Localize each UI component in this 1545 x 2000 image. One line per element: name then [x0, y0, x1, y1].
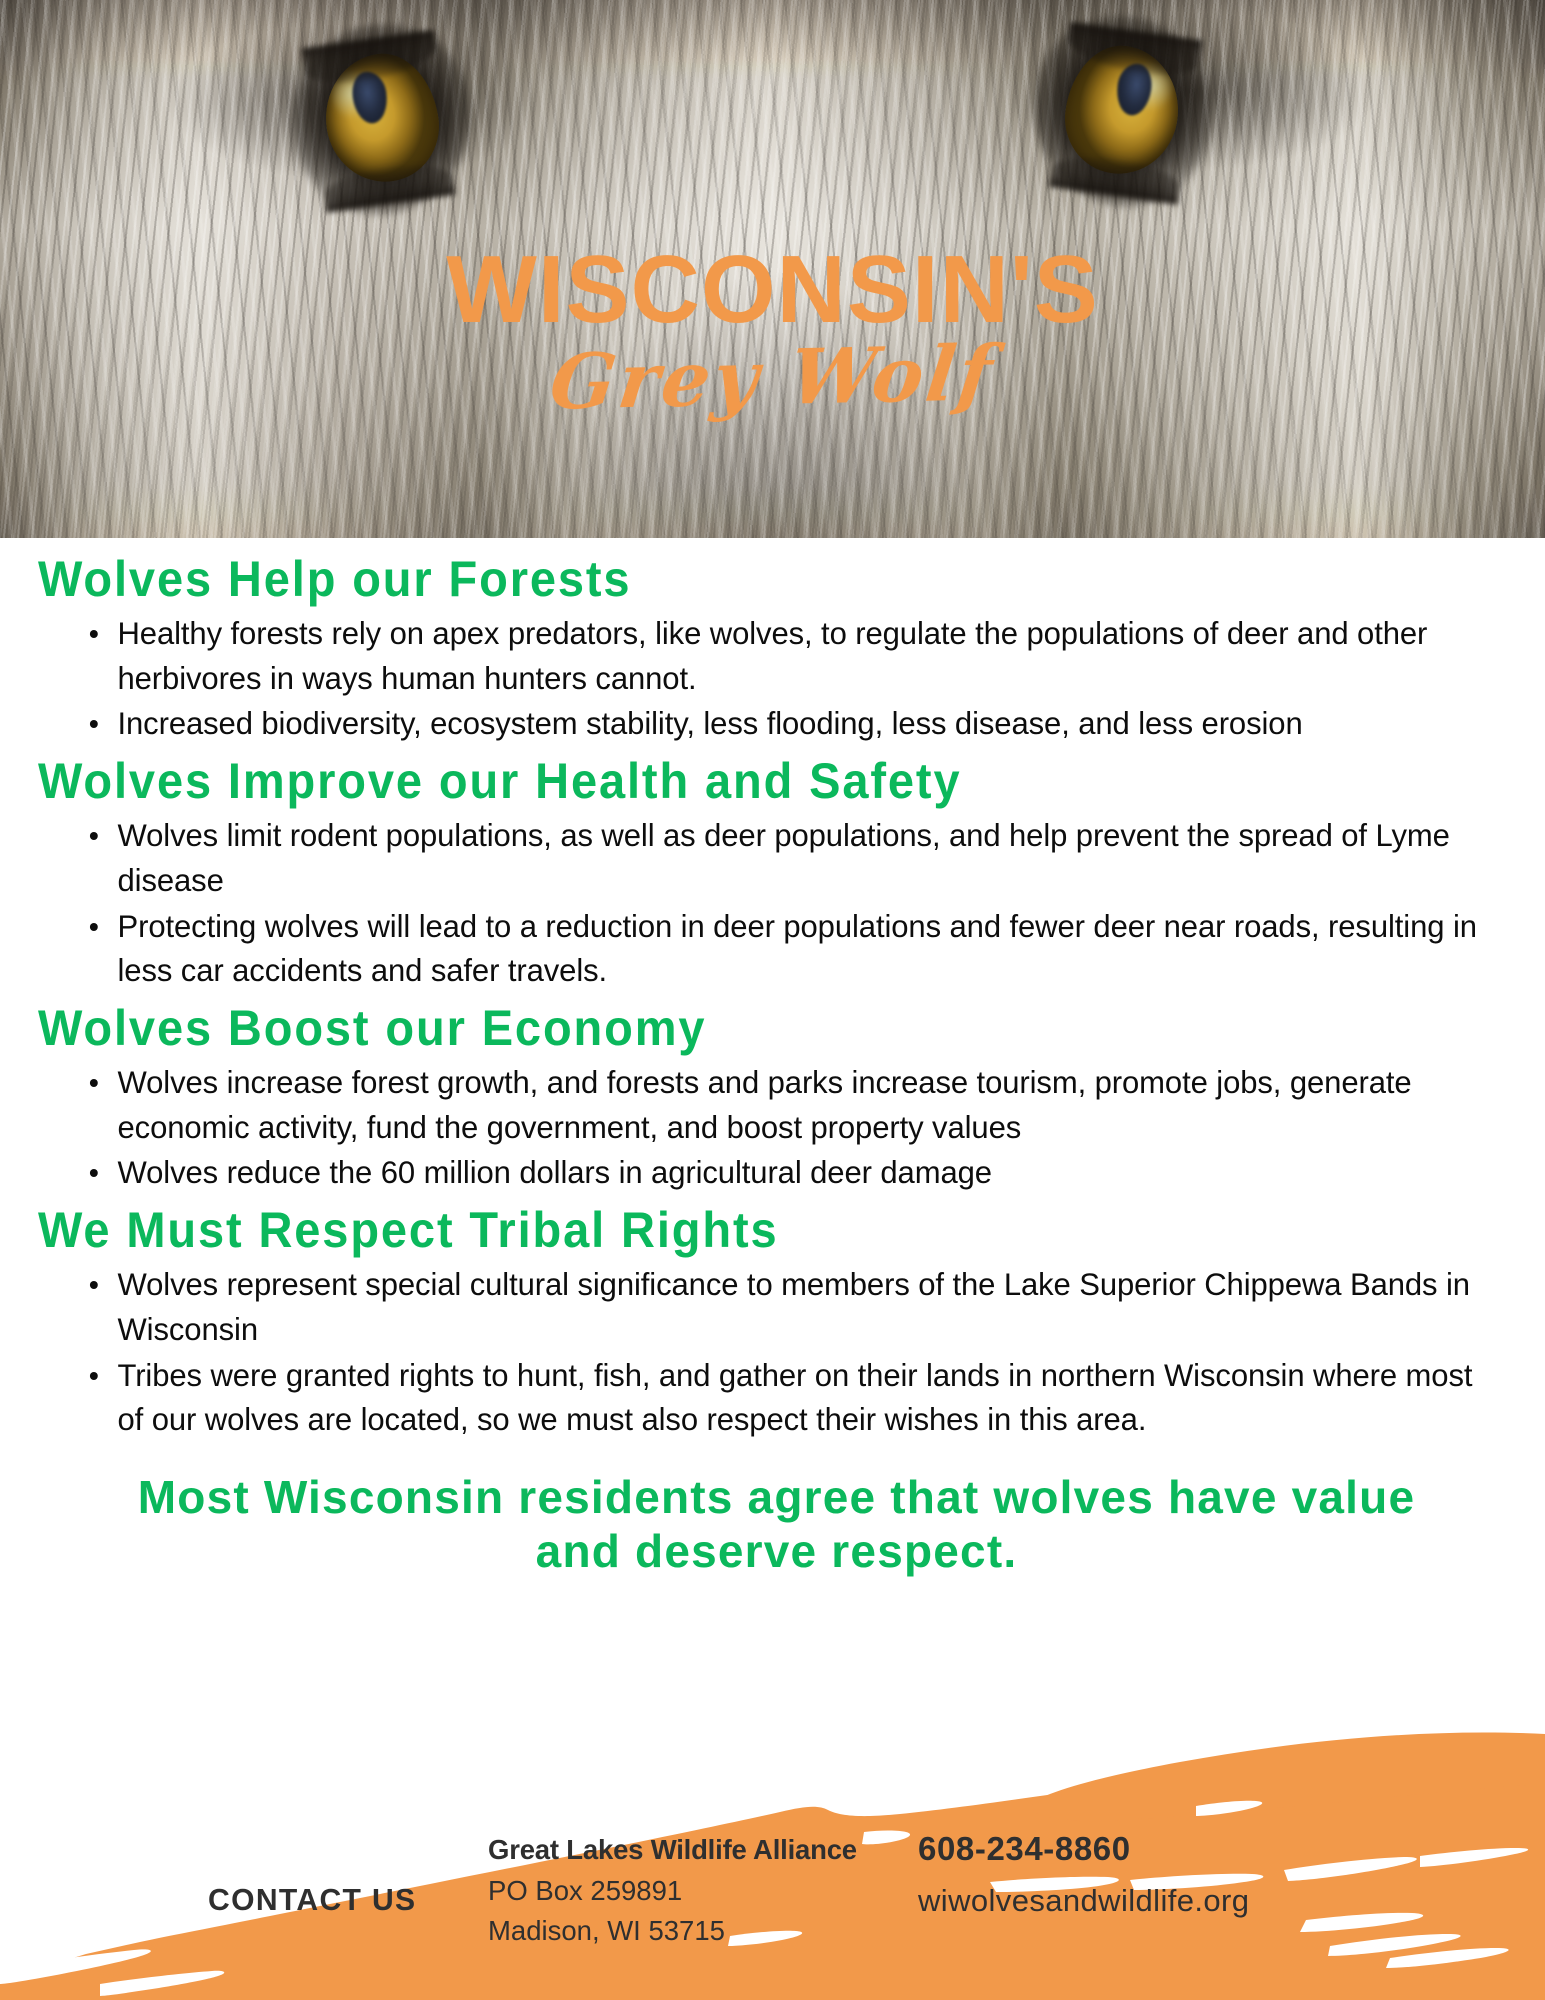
hero-banner: WISCONSIN'S Grey Wolf — [0, 0, 1545, 538]
wolf-right-eye-icon — [1048, 28, 1196, 194]
section-health-safety: Wolves Improve our Health and Safety Wol… — [38, 752, 1515, 993]
bullet-list: Wolves represent special cultural signif… — [84, 1262, 1515, 1442]
section-heading: We Must Respect Tribal Rights — [38, 1201, 1426, 1260]
section-heading: Wolves Improve our Health and Safety — [38, 752, 1426, 811]
contact-channels-block: 608-234-8860 wiwolvesandwildlife.org — [918, 1828, 1249, 1924]
footer-contact-bar: CONTACT US Great Lakes Wildlife Alliance… — [0, 1710, 1545, 2000]
section-tribal-rights: We Must Respect Tribal Rights Wolves rep… — [38, 1201, 1515, 1442]
list-item: Healthy forests rely on apex predators, … — [84, 611, 1494, 700]
website-url[interactable]: wiwolvesandwildlife.org — [918, 1879, 1249, 1924]
poster-body: Wolves Help our Forests Healthy forests … — [0, 538, 1545, 1579]
bullet-list: Healthy forests rely on apex predators, … — [84, 611, 1515, 746]
list-item: Wolves reduce the 60 million dollars in … — [84, 1150, 1494, 1195]
address-line-1: PO Box 259891 — [488, 1871, 857, 1912]
hero-title-group: WISCONSIN'S Grey Wolf — [0, 246, 1545, 416]
section-economy: Wolves Boost our Economy Wolves increase… — [38, 999, 1515, 1195]
poster-title: WISCONSIN'S — [0, 246, 1545, 334]
list-item: Increased biodiversity, ecosystem stabil… — [84, 701, 1494, 746]
section-heading: Wolves Boost our Economy — [38, 999, 1426, 1058]
wolf-left-eye-icon — [308, 36, 456, 202]
phone-number[interactable]: 608-234-8860 — [918, 1828, 1249, 1871]
list-item: Wolves increase forest growth, and fores… — [84, 1060, 1494, 1149]
list-item: Wolves limit rodent populations, as well… — [84, 813, 1494, 902]
poster-subtitle-script: Grey Wolf — [0, 324, 1545, 432]
section-heading: Wolves Help our Forests — [38, 550, 1426, 609]
list-item: Protecting wolves will lead to a reducti… — [84, 904, 1494, 993]
bullet-list: Wolves increase forest growth, and fores… — [84, 1060, 1515, 1195]
poster-page: WISCONSIN'S Grey Wolf Wolves Help our Fo… — [0, 0, 1545, 2000]
list-item: Tribes were granted rights to hunt, fish… — [84, 1353, 1494, 1442]
bullet-list: Wolves limit rodent populations, as well… — [84, 813, 1515, 993]
section-forests: Wolves Help our Forests Healthy forests … — [38, 550, 1515, 746]
address-block: Great Lakes Wildlife Alliance PO Box 259… — [488, 1830, 857, 1952]
address-line-2: Madison, WI 53715 — [488, 1911, 857, 1952]
closing-statement: Most Wisconsin residents agree that wolv… — [38, 1470, 1515, 1579]
organization-name: Great Lakes Wildlife Alliance — [488, 1830, 857, 1871]
contact-us-label: CONTACT US — [208, 1882, 416, 1918]
list-item: Wolves represent special cultural signif… — [84, 1262, 1494, 1351]
footer-text-group: CONTACT US Great Lakes Wildlife Alliance… — [0, 1710, 1545, 2000]
